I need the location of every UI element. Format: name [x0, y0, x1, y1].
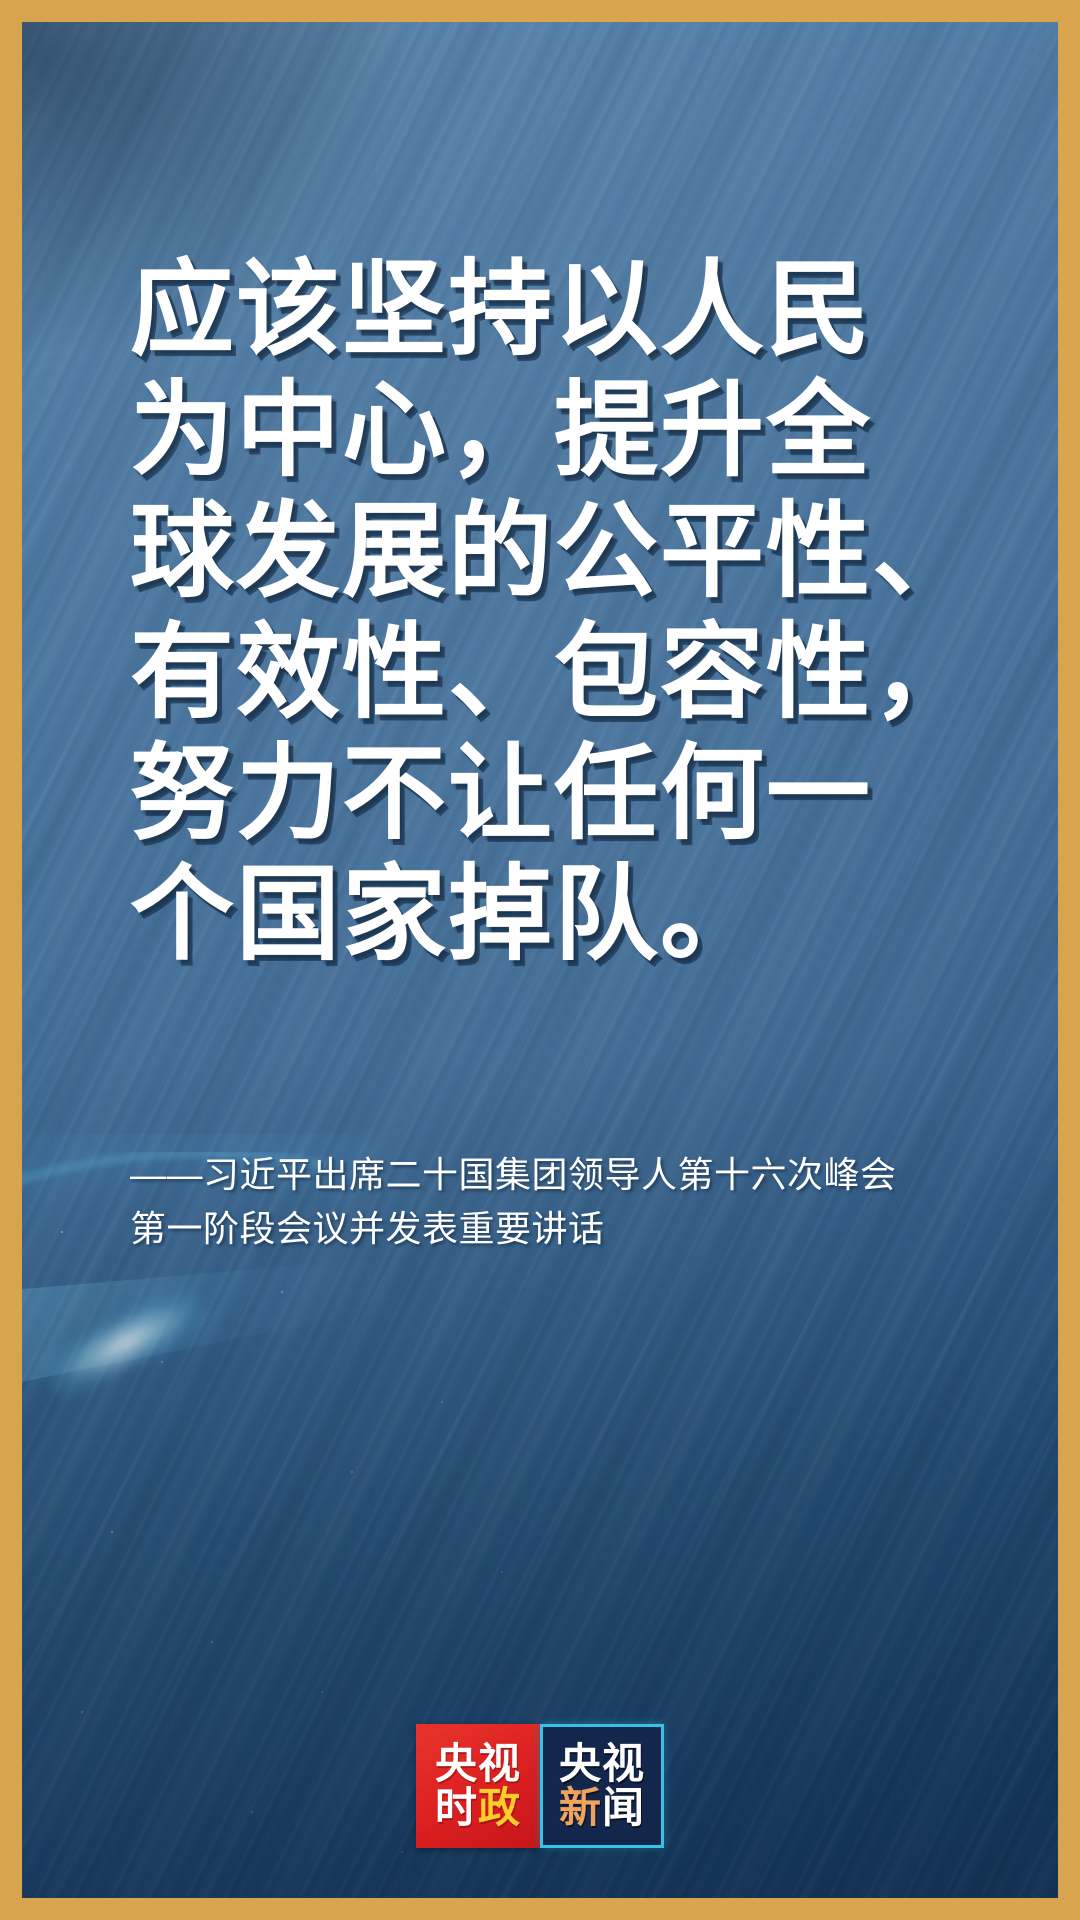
logo-text-top: 央视 — [435, 1742, 521, 1786]
headline-line: 为中心，提升全 — [130, 371, 1010, 492]
headline-line: 有效性、包容性， — [130, 613, 1010, 734]
attribution-line: ——习近平出席二十国集团领导人第十六次峰会 — [130, 1148, 950, 1202]
logo-text-top: 央视 — [559, 1742, 645, 1786]
logo-cctv-shizheng[interactable]: 央视 时 政 — [416, 1724, 540, 1848]
logo-text-bottom-accent: 新 — [559, 1786, 602, 1830]
headline-line: 个国家掉队。 — [130, 855, 1010, 976]
logo-text-bottom-first: 时 — [435, 1786, 478, 1830]
headline-quote: 应该坚持以人民 为中心，提升全 球发展的公平性、 有效性、包容性， 努力不让任何… — [130, 250, 1010, 976]
logo-cctv-xinwen[interactable]: 央视 新 闻 — [540, 1724, 664, 1848]
headline-line: 球发展的公平性、 — [130, 492, 1010, 613]
logo-top-row: 央视 — [435, 1742, 521, 1786]
logo-bottom-row: 新 闻 — [559, 1786, 645, 1830]
logo-strip: 央视 时 政 央视 新 闻 — [22, 1724, 1058, 1848]
headline-line: 应该坚持以人民 — [130, 250, 1010, 371]
logo-top-row: 央视 — [559, 1742, 645, 1786]
poster-frame-inner: 应该坚持以人民 为中心，提升全 球发展的公平性、 有效性、包容性， 努力不让任何… — [22, 22, 1058, 1898]
logo-bottom-row: 时 政 — [435, 1786, 521, 1830]
attribution-source: ——习近平出席二十国集团领导人第十六次峰会 第一阶段会议并发表重要讲话 — [130, 1148, 950, 1256]
attribution-line: 第一阶段会议并发表重要讲话 — [130, 1202, 950, 1256]
logo-text-bottom-accent: 政 — [478, 1786, 521, 1830]
poster-root: 应该坚持以人民 为中心，提升全 球发展的公平性、 有效性、包容性， 努力不让任何… — [0, 0, 1080, 1920]
logo-text-bottom-last: 闻 — [602, 1786, 645, 1830]
headline-line: 努力不让任何一 — [130, 734, 1010, 855]
